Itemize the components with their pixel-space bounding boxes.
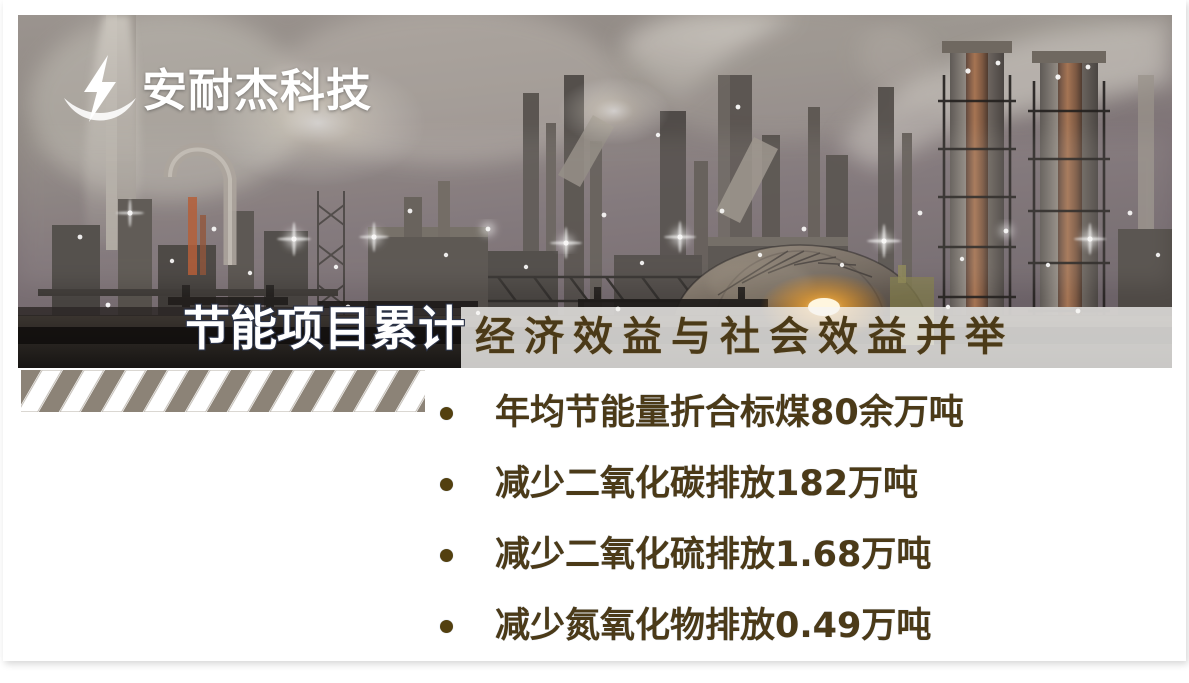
- presentation-slide: 安耐杰科技 节能项目累计 经济效益与社会效益并举: [0, 0, 1189, 683]
- page-title: 经济效益与社会效益并举: [475, 312, 1165, 362]
- list-item-label: 减少二氧化硫排放1.68万吨: [495, 536, 931, 575]
- list-item: 减少二氧化硫排放1.68万吨: [440, 520, 1140, 591]
- bullet-dot-icon: [440, 478, 453, 491]
- diagonal-stripe-ribbon: [21, 370, 425, 412]
- bullet-dot-icon: [440, 549, 453, 562]
- bullet-list: 年均节能量折合标煤80余万吨 减少二氧化碳排放182万吨 减少二氧化硫排放1.6…: [440, 378, 1140, 662]
- list-item: 年均节能量折合标煤80余万吨: [440, 378, 1140, 449]
- brand-logo: 安耐杰科技: [64, 47, 372, 133]
- slide-canvas: 安耐杰科技 节能项目累计 经济效益与社会效益并举: [3, 0, 1186, 661]
- bullet-dot-icon: [440, 407, 453, 420]
- list-item: 减少二氧化碳排放182万吨: [440, 449, 1140, 520]
- list-item-label: 年均节能量折合标煤80余万吨: [495, 394, 964, 433]
- brand-mark: [64, 52, 136, 128]
- stripe-pattern-icon: [21, 370, 425, 412]
- lightning-bolt-icon: [64, 52, 136, 128]
- brand-name: 安耐杰科技: [142, 68, 372, 113]
- list-item-label: 减少二氧化碳排放182万吨: [495, 465, 918, 504]
- list-item-label: 减少氮氧化物排放0.49万吨: [495, 607, 931, 646]
- bullet-dot-icon: [440, 620, 453, 633]
- list-item: 减少氮氧化物排放0.49万吨: [440, 591, 1140, 662]
- kicker-heading: 节能项目累计: [183, 306, 465, 353]
